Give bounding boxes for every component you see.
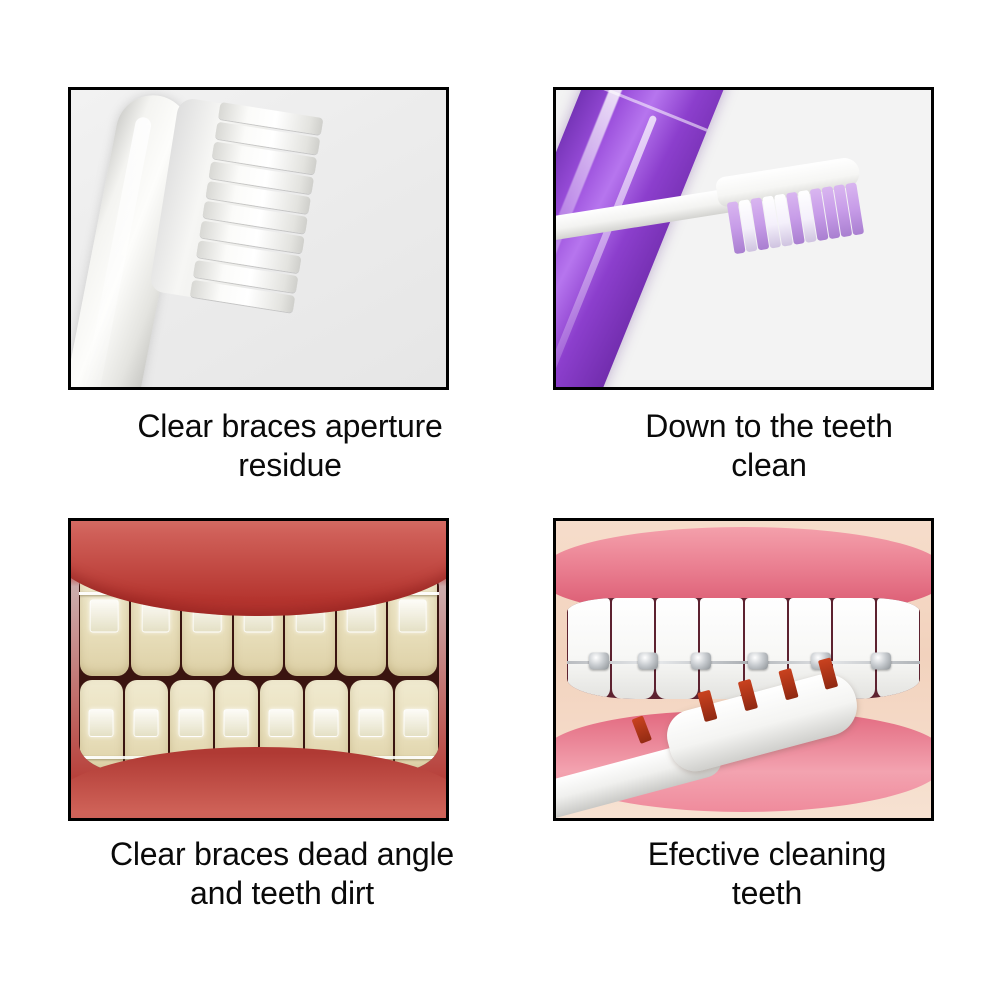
bristle-tuft <box>737 679 757 711</box>
clear-bracket <box>89 709 114 737</box>
clear-bracket <box>398 600 427 633</box>
clear-bracket <box>134 709 159 737</box>
bristle-tuft <box>631 715 652 744</box>
feature-cell-down-to-the-teeth-clean: Down to the teeth clean <box>551 87 991 485</box>
feature-grid: Clear braces aperture residue <box>0 0 1000 1000</box>
caption-line-1: Efective cleaning <box>547 835 987 874</box>
clear-bracket <box>314 709 339 737</box>
caption-line-1: Clear braces dead angle <box>62 835 502 874</box>
caption-line-1: Down to the teeth <box>549 407 989 446</box>
caption-line-2: and teeth dirt <box>62 874 502 913</box>
tooth <box>877 598 919 699</box>
bristle-tuft <box>777 668 797 700</box>
photo-brushing-braces <box>553 518 934 821</box>
bristle-tuft <box>818 657 838 689</box>
photo-white-toothbrush-head <box>68 87 449 390</box>
metal-bracket <box>638 652 658 669</box>
clear-bracket <box>269 709 294 737</box>
caption-line-1: Clear braces aperture <box>70 407 510 446</box>
caption-line-2: clean <box>549 446 989 485</box>
tooth <box>568 598 610 699</box>
clear-bracket <box>90 600 119 633</box>
caption-clear-braces-aperture-residue: Clear braces aperture residue <box>70 407 510 485</box>
metal-bracket <box>589 652 609 669</box>
caption-efective-cleaning-teeth: Efective cleaning teeth <box>547 835 987 913</box>
caption-line-2: teeth <box>547 874 987 913</box>
clear-bracket <box>404 709 429 737</box>
caption-line-2: residue <box>70 446 510 485</box>
clear-bracket <box>179 709 204 737</box>
feature-cell-clear-braces-dead-angle: Clear braces dead angle and teeth dirt <box>68 518 508 913</box>
feature-cell-efective-cleaning-teeth: Efective cleaning teeth <box>551 518 991 913</box>
clear-bracket <box>359 709 384 737</box>
caption-clear-braces-dead-angle: Clear braces dead angle and teeth dirt <box>62 835 502 913</box>
caption-down-to-the-teeth-clean: Down to the teeth clean <box>549 407 989 485</box>
photo-clear-braces-teeth <box>68 518 449 821</box>
feature-cell-clear-braces-aperture-residue: Clear braces aperture residue <box>68 87 508 485</box>
metal-bracket <box>871 652 891 669</box>
clear-bracket <box>224 709 249 737</box>
photo-purple-handle-brush <box>553 87 934 390</box>
infographic-page: Clear braces aperture residue <box>0 0 1000 1000</box>
